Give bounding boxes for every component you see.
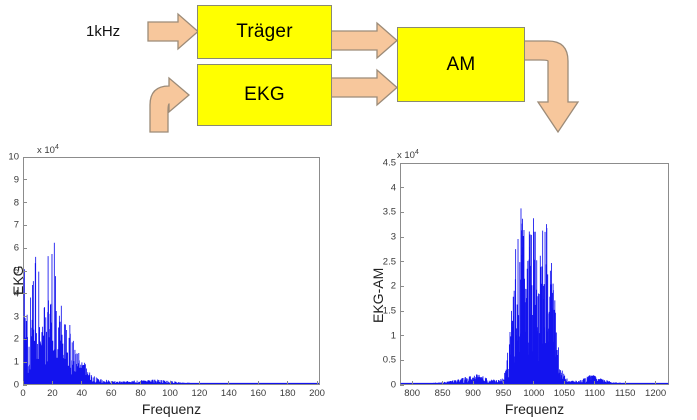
y-tick-mark xyxy=(400,360,404,361)
chart-ekg-spectrum: x 104 012345678910 020406080100120140160… xyxy=(0,140,348,420)
x-tick-200: 200 xyxy=(309,388,325,399)
y-tick-mark xyxy=(23,385,27,386)
y-tick-2: 2 xyxy=(0,334,19,345)
x-tick-160: 160 xyxy=(250,388,266,399)
y-tick-0: 0 xyxy=(374,380,396,391)
x-tick-900: 900 xyxy=(465,388,481,399)
right-plot-area xyxy=(400,163,669,385)
block-carrier-label: Träger xyxy=(236,21,292,43)
x-tick-1050: 1050 xyxy=(554,388,575,399)
x-tick-80: 80 xyxy=(135,388,146,399)
y-tick-mark xyxy=(23,225,27,226)
x-tick-800: 800 xyxy=(404,388,420,399)
y-tick-10: 10 xyxy=(0,152,19,163)
block-ekg[interactable]: EKG xyxy=(197,64,332,126)
y-tick-8: 8 xyxy=(0,197,19,208)
x-tick-1150: 1150 xyxy=(615,388,635,399)
input-arrow-1khz xyxy=(148,14,198,49)
chart-ekg-am-spectrum: x 104 00.511.522.533.544.5 8008509009501… xyxy=(349,140,697,420)
y-tick-3: 3 xyxy=(374,232,396,243)
x-tick-mark xyxy=(23,381,24,385)
y-tick-2.5: 2.5 xyxy=(374,256,396,267)
y-tick-1: 1 xyxy=(374,330,396,341)
left-spectrum-trace xyxy=(24,158,319,384)
x-tick-mark xyxy=(503,381,504,385)
figure-root: 1kHz Träger EKG AM x 104 012345678910 02… xyxy=(0,0,697,420)
x-tick-mark xyxy=(317,381,318,385)
y-tick-mark xyxy=(23,316,27,317)
x-tick-mark xyxy=(287,381,288,385)
y-tick-9: 9 xyxy=(0,174,19,185)
arrow-carrier-to-am xyxy=(330,23,397,58)
block-carrier[interactable]: Träger xyxy=(197,5,332,59)
y-tick-4.5: 4.5 xyxy=(374,158,396,169)
right-exponent-label: x 104 xyxy=(397,149,419,161)
y-tick-0: 0 xyxy=(0,380,19,391)
x-tick-mark xyxy=(625,381,626,385)
y-tick-7: 7 xyxy=(0,220,19,231)
x-tick-0: 0 xyxy=(20,388,25,399)
x-tick-mark xyxy=(533,381,534,385)
block-am[interactable]: AM xyxy=(397,27,525,102)
y-tick-mark xyxy=(400,311,404,312)
spectrum-path xyxy=(24,243,319,384)
right-y-axis-label: EKG-AM xyxy=(370,268,386,323)
x-tick-mark xyxy=(228,381,229,385)
y-tick-mark xyxy=(400,212,404,213)
left-y-axis-label: EKG xyxy=(10,265,26,295)
x-tick-20: 20 xyxy=(47,388,58,399)
arrow-ekg-to-am xyxy=(330,70,397,105)
x-tick-mark xyxy=(655,381,656,385)
y-tick-mark xyxy=(23,339,27,340)
x-tick-100: 100 xyxy=(162,388,178,399)
y-tick-mark xyxy=(23,179,27,180)
spectrum-path xyxy=(401,208,668,384)
x-tick-mark xyxy=(258,381,259,385)
x-tick-mark xyxy=(140,381,141,385)
x-tick-mark xyxy=(170,381,171,385)
right-spectrum-trace xyxy=(401,164,668,384)
right-x-axis-label: Frequenz xyxy=(400,401,669,417)
left-x-axis-label: Frequenz xyxy=(23,401,320,417)
x-tick-mark xyxy=(564,381,565,385)
x-tick-60: 60 xyxy=(106,388,117,399)
y-tick-3: 3 xyxy=(0,311,19,322)
x-tick-180: 180 xyxy=(280,388,296,399)
y-tick-mark xyxy=(400,163,404,164)
x-tick-850: 850 xyxy=(435,388,451,399)
diagram-arrows xyxy=(0,0,697,140)
x-tick-mark xyxy=(111,381,112,385)
y-tick-3.5: 3.5 xyxy=(374,207,396,218)
y-tick-mark xyxy=(23,362,27,363)
x-tick-1100: 1100 xyxy=(585,388,605,399)
y-tick-mark xyxy=(400,261,404,262)
y-tick-mark xyxy=(23,248,27,249)
x-tick-140: 140 xyxy=(221,388,237,399)
left-plot-area xyxy=(23,157,320,385)
arrow-ekg-feedback xyxy=(150,78,189,132)
y-tick-mark xyxy=(400,385,404,386)
y-tick-mark xyxy=(400,286,404,287)
y-tick-mark xyxy=(23,157,27,158)
x-tick-mark xyxy=(412,381,413,385)
x-tick-mark xyxy=(199,381,200,385)
y-tick-mark xyxy=(400,237,404,238)
x-tick-40: 40 xyxy=(77,388,88,399)
x-tick-1000: 1000 xyxy=(523,388,544,399)
y-tick-6: 6 xyxy=(0,243,19,254)
left-exponent-label: x 104 xyxy=(37,144,59,156)
y-tick-mark xyxy=(23,202,27,203)
block-am-label: AM xyxy=(447,54,476,76)
block-ekg-label: EKG xyxy=(244,84,285,106)
block-diagram: 1kHz Träger EKG AM xyxy=(0,0,697,140)
y-tick-mark xyxy=(400,335,404,336)
x-tick-mark xyxy=(473,381,474,385)
x-tick-mark xyxy=(594,381,595,385)
x-tick-mark xyxy=(442,381,443,385)
x-tick-950: 950 xyxy=(496,388,512,399)
x-tick-120: 120 xyxy=(191,388,207,399)
x-tick-mark xyxy=(81,381,82,385)
y-tick-1: 1 xyxy=(0,357,19,368)
arrow-am-output xyxy=(523,41,578,132)
x-tick-1200: 1200 xyxy=(645,388,666,399)
y-tick-4: 4 xyxy=(374,182,396,193)
y-tick-mark xyxy=(400,187,404,188)
x-tick-mark xyxy=(52,381,53,385)
input-frequency-label: 1kHz xyxy=(86,23,120,40)
y-tick-0.5: 0.5 xyxy=(374,355,396,366)
